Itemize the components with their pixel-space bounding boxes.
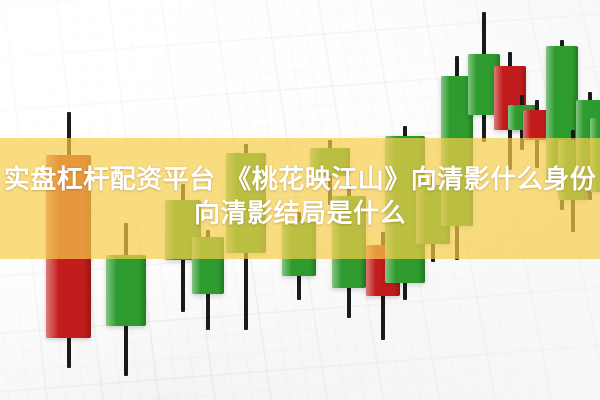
headline-line-2: 向清影结局是什么 xyxy=(0,198,600,232)
candlestick-body xyxy=(192,237,224,294)
candlestick-body xyxy=(106,255,146,326)
headline-text: 实盘杠杆配资平台 《桃花映江山》向清影什么身份 向清影结局是什么 xyxy=(0,164,600,232)
headline-line-1: 实盘杠杆配资平台 《桃花映江山》向清影什么身份 xyxy=(0,164,600,198)
candlestick-banner: 实盘杠杆配资平台 《桃花映江山》向清影什么身份 向清影结局是什么 xyxy=(0,0,600,400)
